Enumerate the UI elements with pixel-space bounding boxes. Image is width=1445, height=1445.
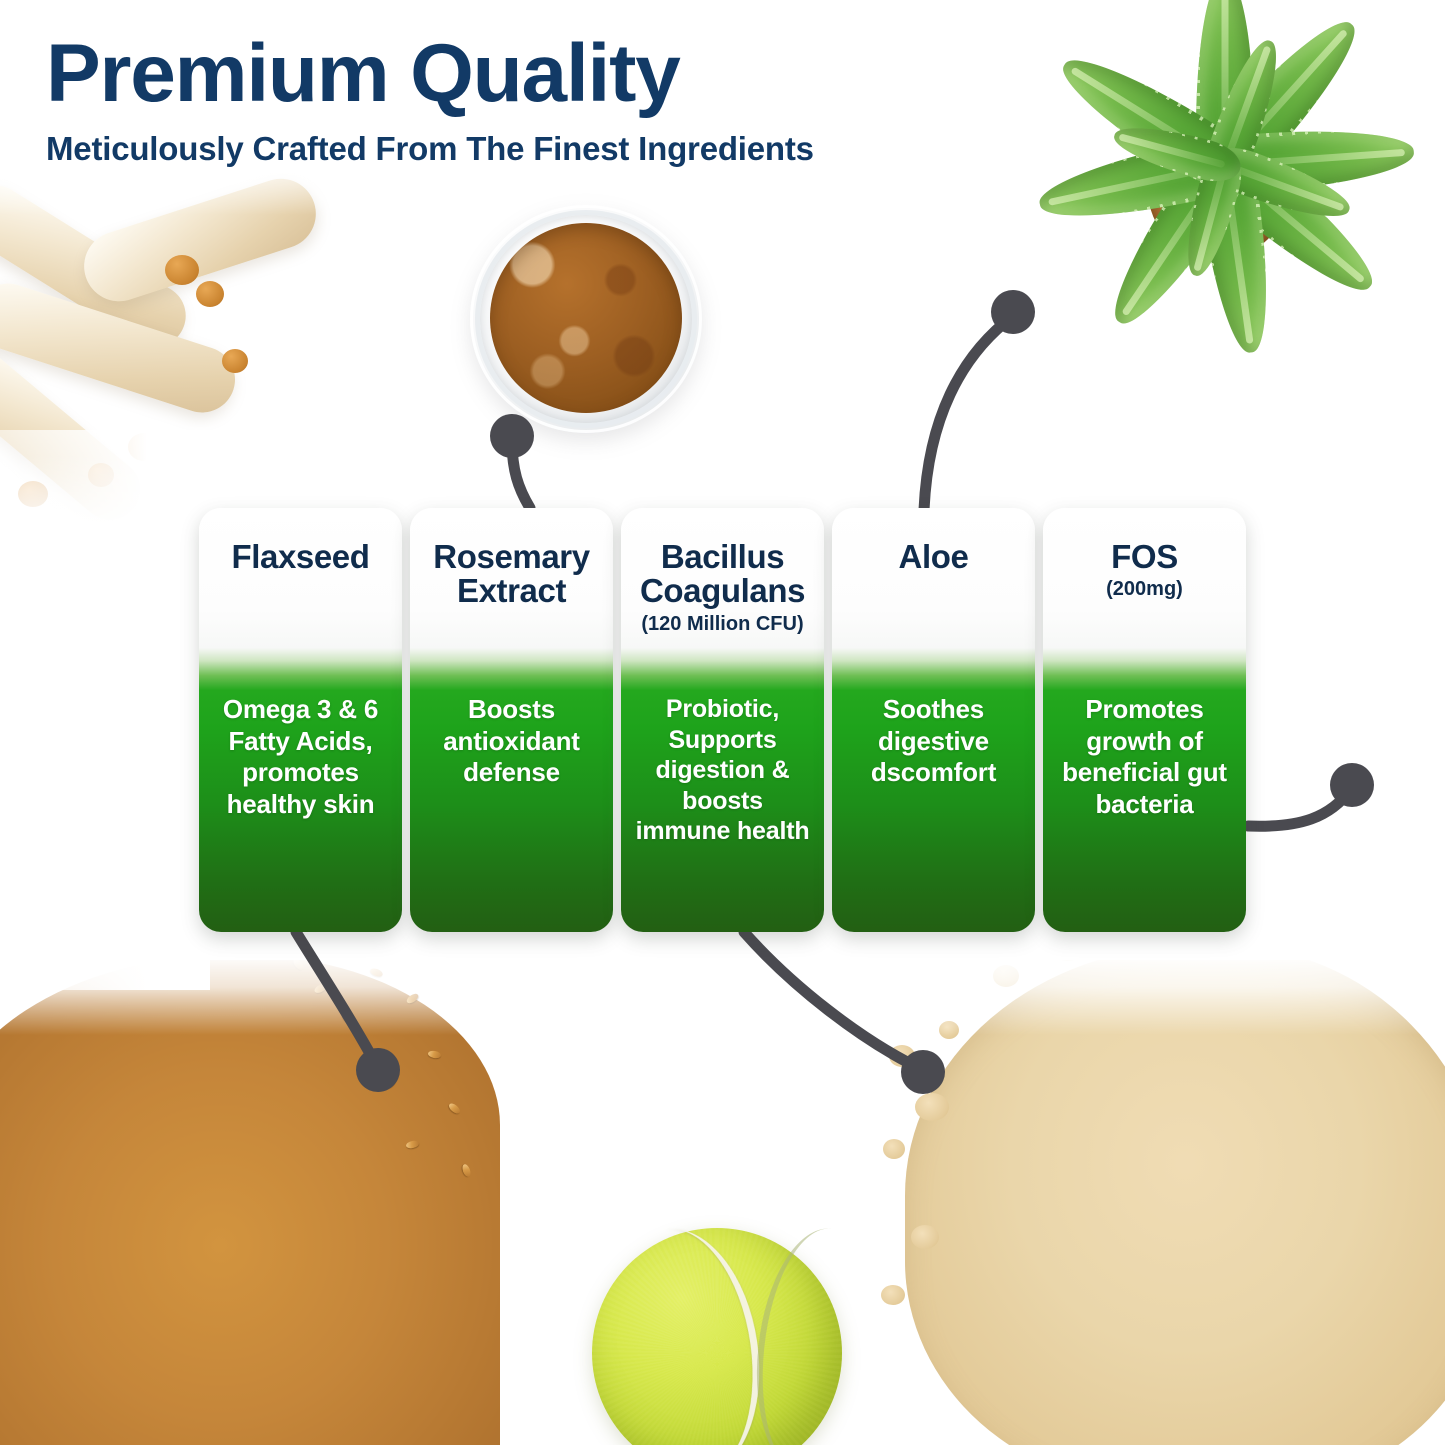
infographic-canvas: Premium Quality Meticulously Crafted Fro… (0, 0, 1445, 1445)
ingredient-name: Flaxseed (231, 540, 369, 574)
card-rosemary-extract[interactable]: Rosemary Extract Boosts antioxidant defe… (410, 508, 613, 932)
card-bacillus-coagulans[interactable]: Bacillus Coagulans (120 Million CFU) Pro… (621, 508, 824, 932)
ingredient-name: FOS (1111, 540, 1178, 574)
ingredient-dose: (120 Million CFU) (641, 613, 803, 636)
aloe-vera-plant-image (990, 0, 1445, 400)
card-header-flaxseed: Flaxseed (199, 508, 402, 670)
card-aloe[interactable]: Aloe Soothes digestive dscomfort (832, 508, 1035, 932)
ingredient-name: Rosemary Extract (420, 540, 603, 609)
ingredient-benefit: Omega 3 & 6 Fatty Acids, promotes health… (199, 694, 402, 821)
connector-dot-bacillus (901, 1050, 945, 1094)
card-header-bacillus-coagulans: Bacillus Coagulans (120 Million CFU) (621, 508, 824, 670)
connector-dot-flaxseed (356, 1048, 400, 1092)
card-fos[interactable]: FOS (200mg) Promotes growth of beneficia… (1043, 508, 1246, 932)
rosemary-powder-bowl-image (470, 205, 702, 433)
ingredient-card-row: Flaxseed Omega 3 & 6 Fatty Acids, promot… (199, 508, 1246, 932)
page-subtitle: Meticulously Crafted From The Finest Ing… (46, 130, 814, 168)
header: Premium Quality Meticulously Crafted Fro… (46, 34, 814, 168)
page-title: Premium Quality (46, 34, 814, 114)
tennis-ball-image (592, 1228, 842, 1445)
card-flaxseed[interactable]: Flaxseed Omega 3 & 6 Fatty Acids, promot… (199, 508, 402, 932)
ingredient-benefit: Soothes digestive dscomfort (832, 694, 1035, 789)
ingredient-benefit: Promotes growth of beneficial gut bacter… (1043, 694, 1246, 821)
card-header-fos: FOS (200mg) (1043, 508, 1246, 670)
background-wash-bottom (0, 955, 1445, 1035)
card-header-aloe: Aloe (832, 508, 1035, 670)
connector-dot-rosemary (490, 414, 534, 458)
ingredient-benefit: Probiotic, Supports digestion & boosts i… (621, 694, 824, 847)
ingredient-dose: (200mg) (1106, 578, 1183, 601)
ingredient-benefit: Boosts antioxidant defense (410, 694, 613, 789)
ingredient-name: Aloe (899, 540, 969, 574)
connector-dot-aloe (991, 290, 1035, 334)
ingredient-name: Bacillus Coagulans (631, 540, 814, 609)
card-header-rosemary-extract: Rosemary Extract (410, 508, 613, 670)
